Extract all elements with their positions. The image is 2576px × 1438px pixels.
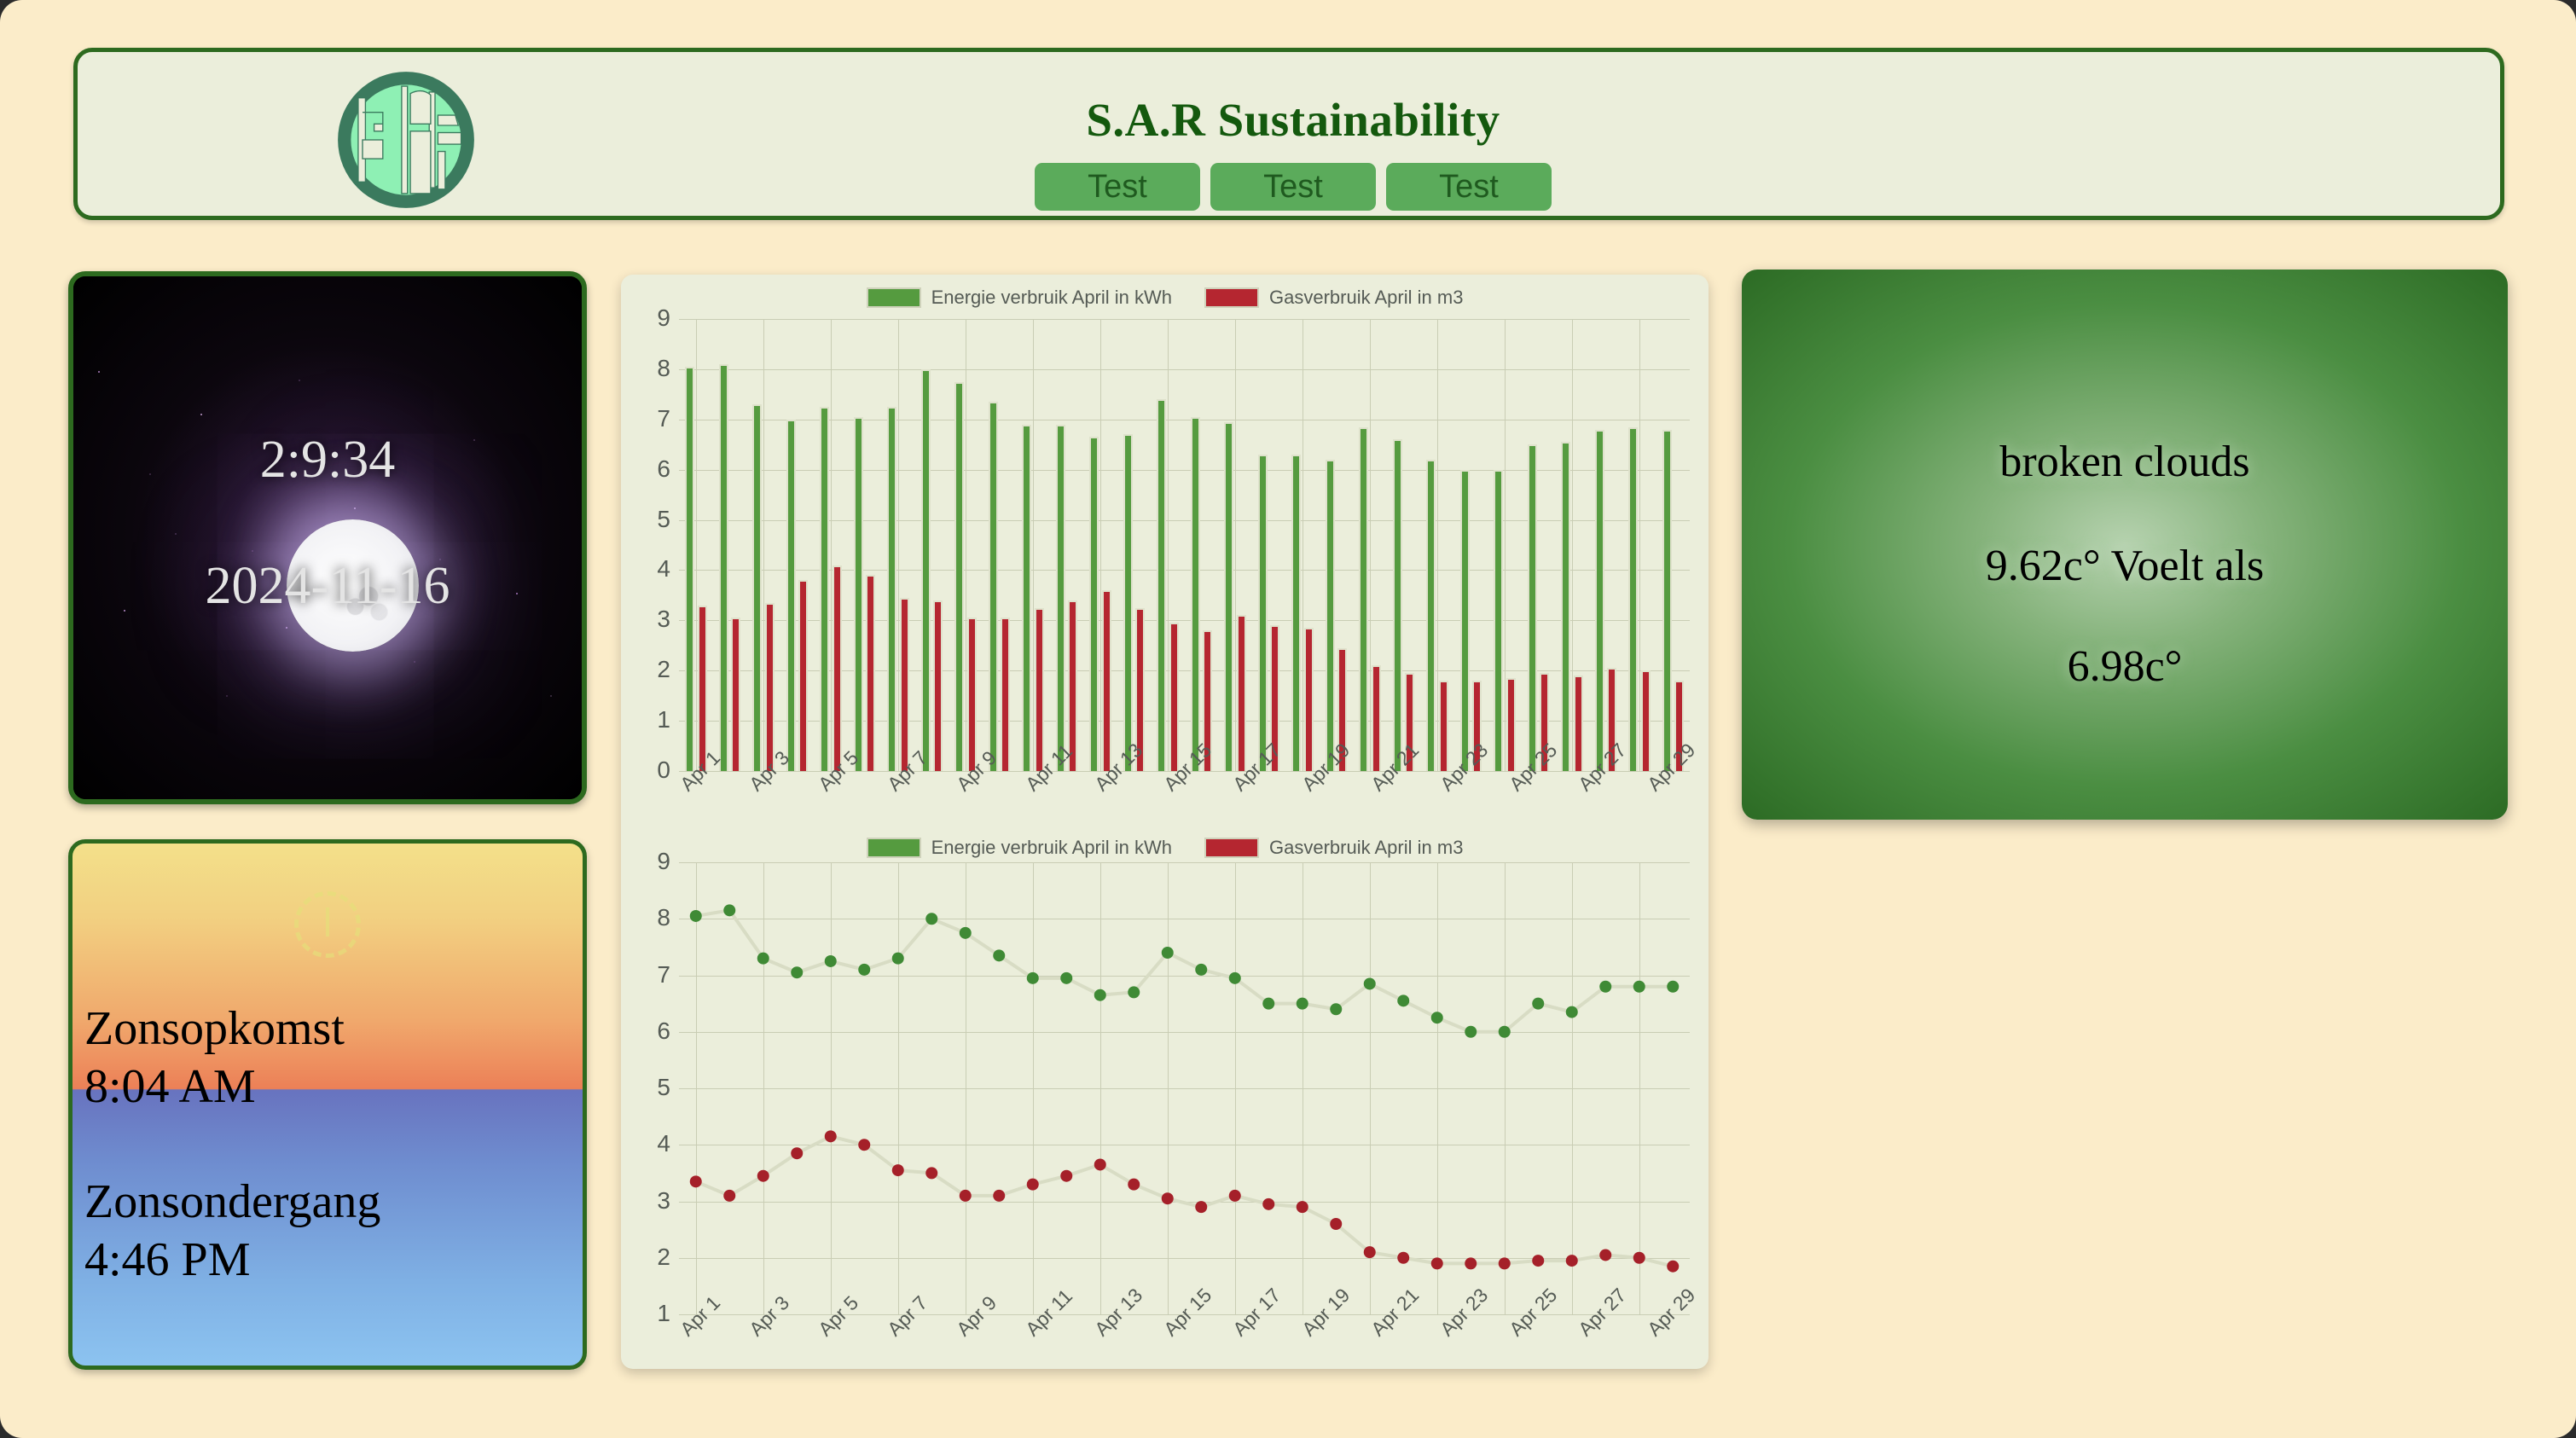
legend-item-energy[interactable]: Energie verbruik April in kWh bbox=[867, 287, 1172, 309]
data-point-energy bbox=[1162, 947, 1174, 959]
data-point-energy bbox=[1027, 972, 1039, 984]
data-point-gas bbox=[1499, 1257, 1511, 1269]
data-point-energy bbox=[1566, 1006, 1578, 1018]
data-point-energy bbox=[1397, 994, 1409, 1006]
bar-energy bbox=[1494, 470, 1503, 771]
y-tick-label: 5 bbox=[635, 506, 670, 533]
bar-gas bbox=[1237, 615, 1246, 771]
header-nav: Test Test Test bbox=[78, 163, 2509, 211]
data-point-gas bbox=[1128, 1179, 1140, 1191]
line-path-energy bbox=[696, 910, 1674, 1031]
bar-gas bbox=[731, 618, 740, 771]
line-plot-area: 123456789 bbox=[635, 862, 1697, 1314]
clock-moon-card: 2:9:34 2024-11-16 bbox=[68, 271, 587, 804]
data-point-energy bbox=[757, 953, 769, 965]
data-point-energy bbox=[993, 949, 1005, 961]
bar-gas bbox=[1068, 600, 1077, 771]
bar-energy bbox=[685, 367, 694, 771]
bar-energy bbox=[1460, 470, 1470, 771]
bar-gas bbox=[1506, 678, 1516, 771]
bar-energy bbox=[1022, 425, 1031, 771]
line-x-axis-labels: Apr 1Apr 3Apr 5Apr 7Apr 9Apr 11Apr 13Apr… bbox=[665, 1318, 1702, 1369]
bar-energy bbox=[1224, 422, 1233, 771]
page-title: S.A.R Sustainability bbox=[78, 93, 2509, 147]
line-path-gas bbox=[696, 1136, 1674, 1266]
legend-label-gas-line: Gasverbruik April in m3 bbox=[1269, 837, 1463, 859]
data-point-gas bbox=[1397, 1252, 1409, 1264]
bar-chart: Energie verbruik April in kWh Gasverbrui… bbox=[621, 275, 1709, 825]
data-point-energy bbox=[1633, 981, 1645, 993]
weather-card: broken clouds 9.62c° Voelt als 6.98c° bbox=[1742, 270, 2508, 820]
data-point-gas bbox=[1229, 1190, 1241, 1202]
y-tick-label: 5 bbox=[635, 1074, 670, 1101]
bar-energy bbox=[1662, 430, 1672, 771]
data-point-gas bbox=[1094, 1158, 1106, 1170]
bar-gas bbox=[1641, 670, 1651, 771]
data-point-gas bbox=[1465, 1257, 1477, 1269]
data-point-energy bbox=[960, 927, 972, 939]
bar-gas bbox=[1035, 608, 1044, 771]
weather-feels-like: 6.98c° bbox=[1742, 641, 2508, 692]
sun-dashed-icon bbox=[294, 891, 361, 958]
line-series-container bbox=[679, 862, 1690, 1314]
legend-label-energy-line: Energie verbruik April in kWh bbox=[931, 837, 1172, 859]
y-tick-label: 3 bbox=[635, 1187, 670, 1215]
bar-energy bbox=[1123, 434, 1133, 771]
app-header: S.A.R Sustainability Test Test Test bbox=[73, 48, 2504, 220]
bar-energy bbox=[820, 407, 829, 771]
data-point-energy bbox=[1465, 1026, 1477, 1038]
bar-energy bbox=[1326, 460, 1335, 771]
data-point-gas bbox=[993, 1190, 1005, 1202]
data-point-gas bbox=[925, 1167, 937, 1179]
nav-button-test-1[interactable]: Test bbox=[1035, 163, 1200, 211]
bar-gas bbox=[833, 565, 842, 771]
data-point-energy bbox=[1667, 981, 1679, 993]
bar-energy bbox=[1056, 425, 1065, 771]
bar-energy bbox=[1359, 427, 1368, 771]
bar-gas bbox=[1169, 623, 1179, 771]
data-point-gas bbox=[690, 1175, 702, 1187]
y-tick-label: 8 bbox=[635, 355, 670, 382]
bar-chart-legend: Energie verbruik April in kWh Gasverbrui… bbox=[621, 287, 1709, 309]
y-tick-label: 4 bbox=[635, 1130, 670, 1157]
data-point-gas bbox=[1162, 1192, 1174, 1204]
data-point-gas bbox=[1297, 1201, 1308, 1213]
bar-energy bbox=[921, 369, 931, 771]
bar-gas bbox=[1001, 618, 1010, 771]
data-point-gas bbox=[1364, 1246, 1376, 1258]
bar-energy bbox=[1258, 455, 1268, 771]
bar-energy bbox=[1595, 430, 1604, 771]
line-chart-legend: Energie verbruik April in kWh Gasverbrui… bbox=[621, 837, 1709, 859]
bar-energy bbox=[1191, 417, 1200, 771]
data-point-gas bbox=[960, 1190, 972, 1202]
legend-item-gas-line[interactable]: Gasverbruik April in m3 bbox=[1204, 837, 1463, 859]
legend-label-energy: Energie verbruik April in kWh bbox=[931, 287, 1172, 309]
legend-item-energy-line[interactable]: Energie verbruik April in kWh bbox=[867, 837, 1172, 859]
line-chart: Energie verbruik April in kWh Gasverbrui… bbox=[621, 825, 1709, 1369]
bar-energy bbox=[752, 404, 762, 771]
data-point-energy bbox=[1599, 981, 1611, 993]
data-point-energy bbox=[1330, 1003, 1342, 1015]
data-point-gas bbox=[1195, 1201, 1207, 1213]
legend-swatch-energy bbox=[867, 287, 921, 308]
bar-energy bbox=[989, 402, 998, 771]
y-tick-label: 9 bbox=[635, 848, 670, 875]
bar-energy bbox=[1561, 442, 1570, 771]
legend-swatch-energy-line bbox=[867, 838, 921, 858]
data-point-gas bbox=[825, 1130, 837, 1142]
data-point-energy bbox=[1431, 1012, 1443, 1023]
bar-gas bbox=[1574, 676, 1583, 771]
data-point-energy bbox=[1128, 986, 1140, 998]
bar-energy bbox=[1291, 455, 1301, 771]
bar-energy bbox=[1393, 439, 1402, 771]
data-point-energy bbox=[1532, 998, 1544, 1010]
bar-energy bbox=[1628, 427, 1638, 771]
weather-description: broken clouds bbox=[1742, 437, 2508, 487]
legend-swatch-gas bbox=[1204, 287, 1259, 308]
bar-energy bbox=[1089, 437, 1099, 771]
data-point-energy bbox=[1364, 977, 1376, 989]
sunset-label: Zonsondergang bbox=[84, 1174, 380, 1229]
y-tick-label: 2 bbox=[635, 656, 670, 683]
y-tick-label: 1 bbox=[635, 706, 670, 733]
bar-gas bbox=[900, 598, 909, 771]
bar-plot-area: 0123456789 bbox=[635, 319, 1697, 771]
data-point-energy bbox=[1262, 998, 1274, 1010]
bar-energy bbox=[719, 364, 728, 771]
data-point-gas bbox=[723, 1190, 735, 1202]
data-point-gas bbox=[1330, 1218, 1342, 1230]
data-point-gas bbox=[1431, 1257, 1443, 1269]
bar-gas bbox=[1304, 628, 1314, 771]
data-point-energy bbox=[723, 904, 735, 916]
data-point-gas bbox=[1599, 1249, 1611, 1261]
sunset-time: 4:46 PM bbox=[84, 1232, 251, 1287]
data-point-energy bbox=[1229, 972, 1241, 984]
data-point-energy bbox=[825, 955, 837, 967]
data-point-gas bbox=[791, 1147, 803, 1159]
data-point-gas bbox=[757, 1170, 769, 1182]
data-point-energy bbox=[925, 913, 937, 925]
data-point-gas bbox=[858, 1139, 870, 1151]
charts-card: Energie verbruik April in kWh Gasverbrui… bbox=[621, 275, 1709, 1369]
clock-date: 2024-11-16 bbox=[73, 556, 582, 617]
y-tick-label: 7 bbox=[635, 405, 670, 432]
data-point-energy bbox=[1297, 998, 1308, 1010]
data-point-gas bbox=[1532, 1255, 1544, 1267]
data-point-energy bbox=[1060, 972, 1072, 984]
nav-button-test-3[interactable]: Test bbox=[1386, 163, 1552, 211]
data-point-energy bbox=[1195, 964, 1207, 976]
data-point-gas bbox=[1027, 1179, 1039, 1191]
data-point-gas bbox=[1060, 1170, 1072, 1182]
weather-temperature: 9.62c° Voelt als bbox=[1742, 541, 2508, 591]
bar-gas bbox=[1102, 590, 1111, 771]
sunrise-sunset-card: Zonsopkomst 8:04 AM Zonsondergang 4:46 P… bbox=[68, 839, 587, 1370]
app-root: S.A.R Sustainability Test Test Test 2:9:… bbox=[0, 0, 2576, 1438]
legend-label-gas: Gasverbruik April in m3 bbox=[1269, 287, 1463, 309]
y-tick-label: 2 bbox=[635, 1244, 670, 1271]
data-point-gas bbox=[1262, 1198, 1274, 1210]
bar-energy bbox=[854, 417, 863, 771]
data-point-gas bbox=[892, 1164, 904, 1176]
legend-swatch-gas-line bbox=[1204, 838, 1259, 858]
y-tick-label: 4 bbox=[635, 555, 670, 583]
bar-gas bbox=[967, 618, 977, 771]
bar-gas bbox=[866, 575, 875, 771]
bar-energy bbox=[954, 382, 964, 771]
y-tick-label: 7 bbox=[635, 961, 670, 989]
y-tick-label: 6 bbox=[635, 455, 670, 483]
bar-gas bbox=[698, 606, 707, 771]
bar-gas bbox=[1372, 665, 1381, 771]
y-tick-label: 3 bbox=[635, 606, 670, 633]
bar-energy bbox=[1528, 444, 1537, 771]
bar-gas bbox=[798, 580, 808, 771]
data-point-gas bbox=[1633, 1252, 1645, 1264]
y-tick-label: 6 bbox=[635, 1018, 670, 1045]
bar-energy bbox=[786, 420, 796, 771]
clock-time: 2:9:34 bbox=[73, 430, 582, 490]
data-point-energy bbox=[690, 910, 702, 922]
data-point-energy bbox=[858, 964, 870, 976]
legend-item-gas[interactable]: Gasverbruik April in m3 bbox=[1204, 287, 1463, 309]
sunrise-time: 8:04 AM bbox=[84, 1059, 256, 1114]
bar-gas bbox=[933, 600, 943, 771]
data-point-energy bbox=[892, 953, 904, 965]
y-tick-label: 9 bbox=[635, 304, 670, 332]
data-point-gas bbox=[1667, 1261, 1679, 1273]
data-point-energy bbox=[1094, 989, 1106, 1001]
bar-energy bbox=[887, 407, 896, 771]
y-tick-label: 8 bbox=[635, 904, 670, 931]
data-point-gas bbox=[1566, 1255, 1578, 1267]
bar-energy bbox=[1157, 399, 1166, 771]
data-point-energy bbox=[791, 966, 803, 978]
nav-button-test-2[interactable]: Test bbox=[1210, 163, 1376, 211]
bar-series-container bbox=[679, 319, 1690, 771]
bar-gas bbox=[1439, 681, 1448, 771]
bar-energy bbox=[1426, 460, 1436, 771]
bar-gas bbox=[765, 603, 775, 771]
data-point-energy bbox=[1499, 1026, 1511, 1038]
sunrise-label: Zonsopkomst bbox=[84, 1001, 345, 1056]
